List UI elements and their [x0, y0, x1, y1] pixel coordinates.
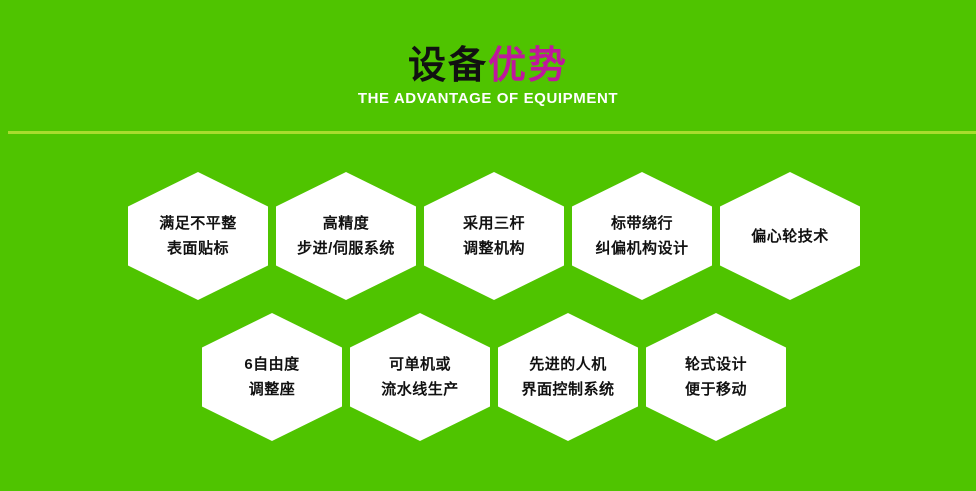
hex-cell-3: 采用三杆 调整机构 [424, 172, 564, 300]
hex-cell-2: 高精度 步进/伺服系统 [276, 172, 416, 300]
page-title: 设备优势 [0, 44, 976, 88]
hex-cell-8: 先进的人机 界面控制系统 [498, 313, 638, 441]
hex-cell-7-label: 可单机或 流水线生产 [354, 352, 486, 402]
hex-cell-5-label: 偏心轮技术 [724, 224, 856, 249]
hex-cell-9-label: 轮式设计 便于移动 [650, 352, 782, 402]
hex-cell-9: 轮式设计 便于移动 [646, 313, 786, 441]
hex-cell-5: 偏心轮技术 [720, 172, 860, 300]
hex-cell-3-label: 采用三杆 调整机构 [428, 211, 560, 261]
page-title-primary: 设备 [408, 45, 488, 87]
page-subtitle: THE ADVANTAGE OF EQUIPMENT [0, 89, 976, 109]
hex-cell-2-label: 高精度 步进/伺服系统 [280, 211, 412, 261]
hex-cell-4-label: 标带绕行 纠偏机构设计 [576, 211, 708, 261]
banner-header: 设备优势 THE ADVANTAGE OF EQUIPMENT [0, 0, 976, 132]
hex-cell-4: 标带绕行 纠偏机构设计 [572, 172, 712, 300]
hexagon-grid: 满足不平整 表面贴标 高精度 步进/伺服系统 采用三杆 调整机构 标带绕行 纠偏… [0, 132, 976, 491]
hex-cell-1: 满足不平整 表面贴标 [128, 172, 268, 300]
hex-cell-8-label: 先进的人机 界面控制系统 [502, 352, 634, 402]
hex-cell-6-label: 6自由度 调整座 [206, 352, 338, 402]
equipment-advantage-banner: 设备优势 THE ADVANTAGE OF EQUIPMENT 满足不平整 表面… [0, 0, 976, 491]
hex-cell-1-label: 满足不平整 表面贴标 [132, 211, 264, 261]
page-title-accent: 优势 [488, 45, 568, 87]
hex-cell-6: 6自由度 调整座 [202, 313, 342, 441]
hex-cell-7: 可单机或 流水线生产 [350, 313, 490, 441]
